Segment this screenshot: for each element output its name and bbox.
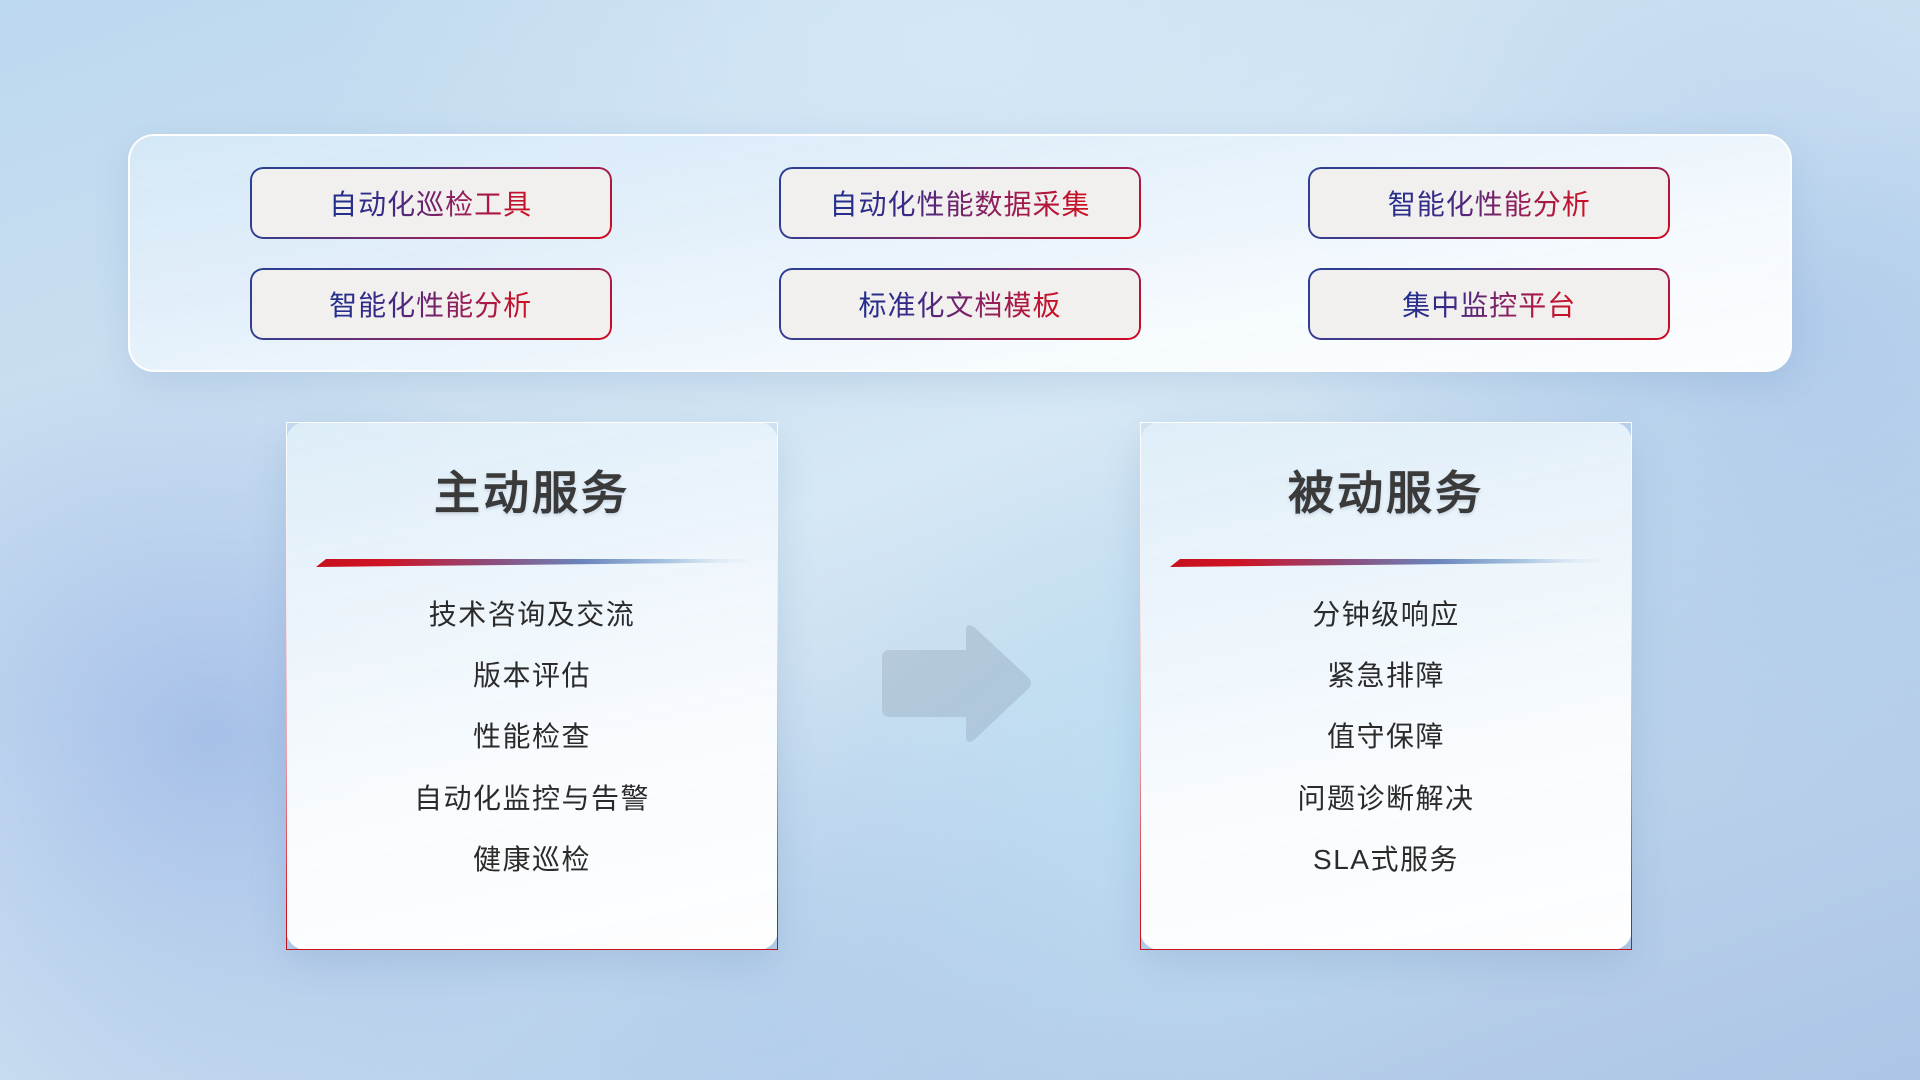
capability-tag[interactable]: 智能化性能分析 bbox=[1310, 169, 1668, 237]
title-divider bbox=[1170, 557, 1602, 569]
capability-tag-label: 标准化文档模板 bbox=[858, 284, 1061, 324]
diagram-canvas: 自动化巡检工具 自动化性能数据采集 智能化性能分析 智能化性能分析 标准化文档模… bbox=[0, 0, 1920, 1080]
service-card-reactive: 被动服务 bbox=[1140, 422, 1632, 950]
service-card-proactive: 主动服务 bbox=[286, 422, 778, 950]
capability-tag-label: 智能化性能分析 bbox=[1388, 183, 1591, 223]
service-item-list: 分钟级响应 紧急排障 值守保障 问题诊断解决 SLA式服务 bbox=[1141, 595, 1631, 879]
service-list-item: 自动化监控与告警 bbox=[414, 779, 650, 818]
service-list-item: 健康巡检 bbox=[473, 840, 591, 879]
capability-tag[interactable]: 自动化巡检工具 bbox=[252, 169, 610, 237]
capability-tag[interactable]: 自动化性能数据采集 bbox=[781, 169, 1139, 237]
service-list-item: 问题诊断解决 bbox=[1297, 779, 1474, 818]
capability-tag[interactable]: 集中监控平台 bbox=[1310, 270, 1668, 338]
service-card-title: 被动服务 bbox=[1141, 457, 1631, 523]
service-card-body: 主动服务 bbox=[287, 423, 777, 949]
capability-tag[interactable]: 智能化性能分析 bbox=[252, 270, 610, 338]
capability-tag[interactable]: 标准化文档模板 bbox=[781, 270, 1139, 338]
right-arrow-icon bbox=[876, 620, 1036, 748]
service-list-item: 性能检查 bbox=[473, 717, 591, 756]
service-list-item: SLA式服务 bbox=[1313, 840, 1459, 879]
service-list-item: 分钟级响应 bbox=[1312, 595, 1460, 634]
service-list-item: 值守保障 bbox=[1327, 717, 1445, 756]
service-card-body: 被动服务 bbox=[1141, 423, 1631, 949]
service-item-list: 技术咨询及交流 版本评估 性能检查 自动化监控与告警 健康巡检 bbox=[287, 595, 777, 879]
capability-tag-label: 自动化巡检工具 bbox=[329, 183, 532, 223]
capability-tag-label: 集中监控平台 bbox=[1402, 284, 1576, 324]
service-list-item: 技术咨询及交流 bbox=[429, 595, 636, 634]
service-list-item: 紧急排障 bbox=[1327, 656, 1445, 695]
capability-tags-panel: 自动化巡检工具 自动化性能数据采集 智能化性能分析 智能化性能分析 标准化文档模… bbox=[128, 134, 1792, 372]
service-card-title: 主动服务 bbox=[287, 457, 777, 523]
capability-tag-label: 自动化性能数据采集 bbox=[829, 183, 1090, 223]
title-divider bbox=[316, 557, 748, 569]
service-list-item: 版本评估 bbox=[473, 656, 591, 695]
capability-tag-label: 智能化性能分析 bbox=[329, 284, 532, 324]
